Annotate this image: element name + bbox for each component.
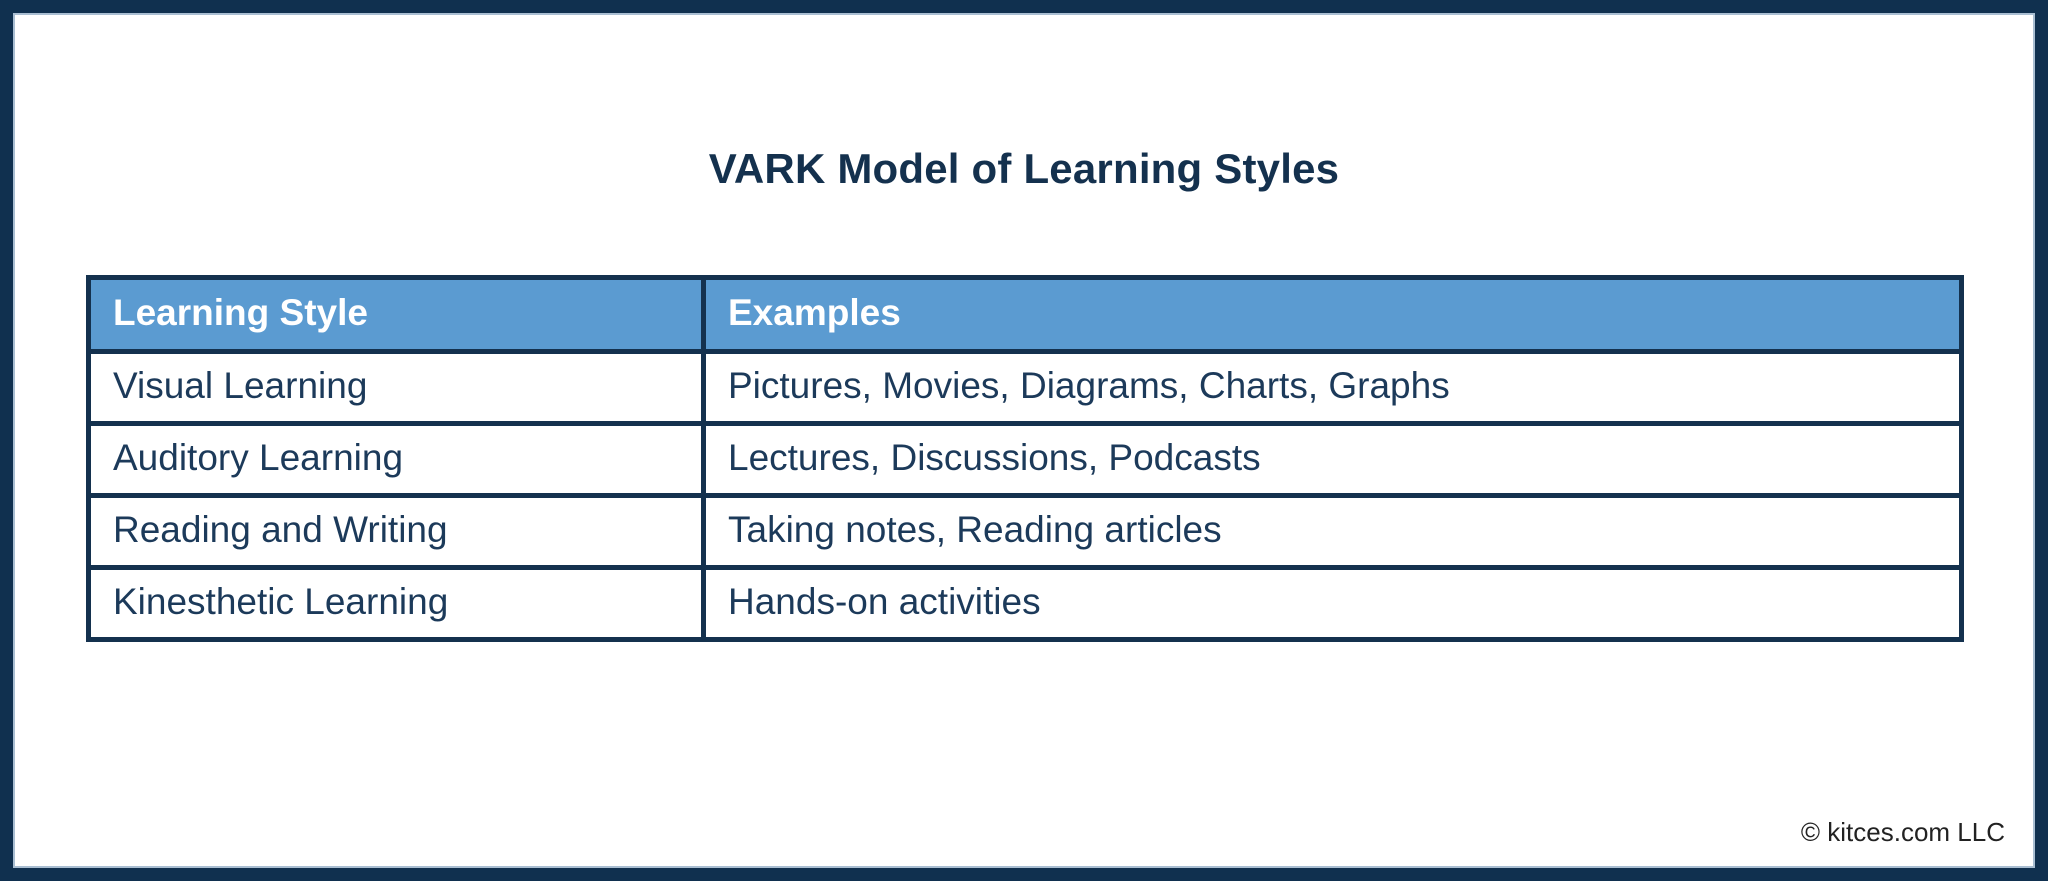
cell-learning-style-text: Reading and Writing <box>91 509 701 554</box>
cell-examples: Lectures, Discussions, Podcasts <box>704 424 1962 496</box>
table-body: Visual Learning Pictures, Movies, Diagra… <box>89 352 1962 640</box>
slide-frame: VARK Model of Learning Styles Learning S… <box>0 0 2048 881</box>
cell-examples-text: Taking notes, Reading articles <box>706 509 1959 554</box>
column-header-examples-label: Examples <box>706 292 1959 337</box>
table-row: Kinesthetic Learning Hands-on activities <box>89 568 1962 640</box>
column-header-examples: Examples <box>704 278 1962 352</box>
cell-examples: Taking notes, Reading articles <box>704 496 1962 568</box>
table-header: Learning Style Examples <box>89 278 1962 352</box>
copyright-credit: © kitces.com LLC <box>1801 817 2005 848</box>
cell-learning-style: Visual Learning <box>89 352 704 424</box>
table-row: Auditory Learning Lectures, Discussions,… <box>89 424 1962 496</box>
cell-learning-style: Kinesthetic Learning <box>89 568 704 640</box>
column-header-learning-style-label: Learning Style <box>91 292 701 337</box>
cell-examples: Pictures, Movies, Diagrams, Charts, Grap… <box>704 352 1962 424</box>
table-header-row: Learning Style Examples <box>89 278 1962 352</box>
cell-learning-style-text: Kinesthetic Learning <box>91 581 701 626</box>
cell-learning-style-text: Visual Learning <box>91 365 701 410</box>
cell-examples-text: Pictures, Movies, Diagrams, Charts, Grap… <box>706 365 1959 410</box>
vark-learning-styles-table: Learning Style Examples Visual Learning <box>86 275 1964 642</box>
cell-learning-style: Auditory Learning <box>89 424 704 496</box>
cell-examples-text: Lectures, Discussions, Podcasts <box>706 437 1959 482</box>
column-header-learning-style: Learning Style <box>89 278 704 352</box>
cell-learning-style-text: Auditory Learning <box>91 437 701 482</box>
page-title: VARK Model of Learning Styles <box>15 145 2033 193</box>
cell-learning-style: Reading and Writing <box>89 496 704 568</box>
cell-examples-text: Hands-on activities <box>706 581 1959 626</box>
cell-examples: Hands-on activities <box>704 568 1962 640</box>
table-row: Visual Learning Pictures, Movies, Diagra… <box>89 352 1962 424</box>
table-row: Reading and Writing Taking notes, Readin… <box>89 496 1962 568</box>
slide-canvas: VARK Model of Learning Styles Learning S… <box>15 15 2033 866</box>
slide-frame-inner-border: VARK Model of Learning Styles Learning S… <box>13 13 2035 868</box>
